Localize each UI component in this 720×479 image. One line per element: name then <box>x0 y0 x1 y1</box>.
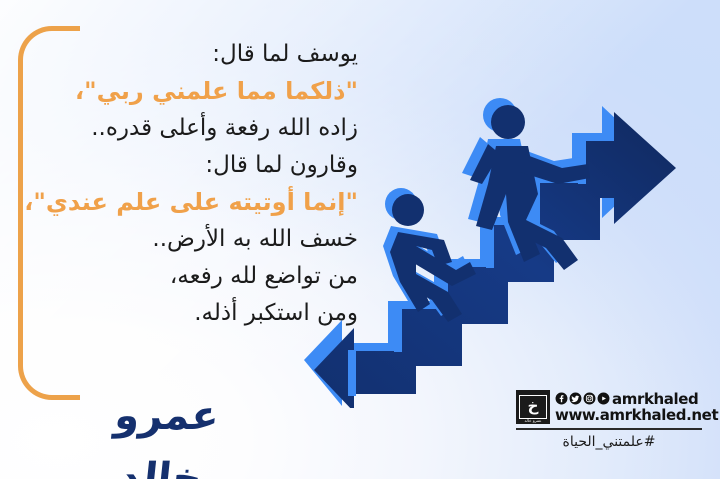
staircase-arrow-illustration <box>296 88 720 408</box>
brand-footer: خ عمرو خالد amrkha <box>516 390 702 451</box>
instagram-icon[interactable] <box>583 392 596 405</box>
twitter-icon[interactable] <box>569 392 582 405</box>
amrkhaled-logo-icon: خ عمرو خالد <box>516 390 550 424</box>
campaign-hashtag: #علمتني_الحياة <box>516 433 702 451</box>
poster-canvas: يوسف لما قال: "ذلكما مما علمني ربي"، زاد… <box>0 0 720 479</box>
quote-line-1: يوسف لما قال: <box>28 36 358 73</box>
logo-caption: عمرو خالد <box>518 418 548 423</box>
youtube-icon[interactable] <box>597 392 610 405</box>
author-signature: عمرو خالد <box>69 385 266 447</box>
website-url[interactable]: www.amrkhaled.net <box>555 407 718 424</box>
logo-letter: خ <box>519 395 547 419</box>
brand-text: amrkhaled www.amrkhaled.net <box>555 391 718 424</box>
facebook-icon[interactable] <box>555 392 568 405</box>
brand-row: خ عمرو خالد amrkha <box>516 390 702 424</box>
social-handle-row: amrkhaled <box>555 391 718 407</box>
brand-divider <box>516 428 702 430</box>
social-handle-text: amrkhaled <box>612 391 698 407</box>
